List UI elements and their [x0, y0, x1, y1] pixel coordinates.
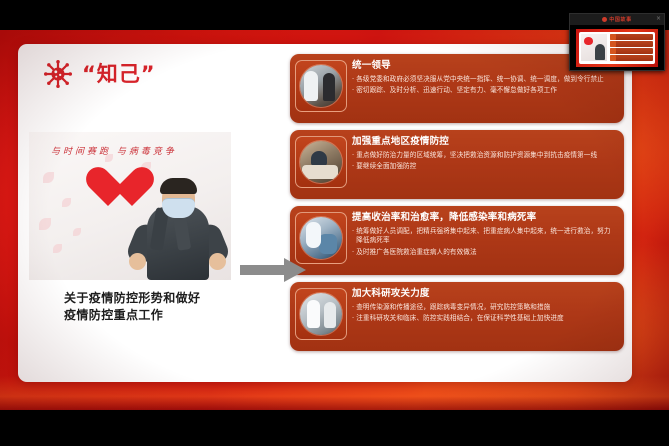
slide-caption: 关于疫情防控形势和做好疫情防控重点工作 — [64, 290, 204, 324]
point-card-2[interactable]: 加强重点地区疫情防控 · 重点做好防治力量的区域统筹，坚决把救治资源和防护资源集… — [290, 130, 624, 199]
pip-content[interactable] — [570, 25, 664, 70]
card-thumbnail-frame — [295, 288, 347, 340]
card-thumbnail-frame — [295, 60, 347, 112]
screen: “知己” 与时间赛跑 与病毒竞争 — [0, 0, 669, 446]
app-logo-icon — [602, 17, 607, 22]
pip-card-thumb — [610, 48, 616, 54]
card-bullet: · 要继续全面加强防控 — [352, 162, 616, 171]
bullet-marker: · — [352, 162, 354, 171]
card-bullet-text: 查明传染源和传播途径，跟踪病毒变异情况，研究防控策略和措施 — [356, 303, 616, 312]
slide-title-row: “知己” — [44, 60, 156, 88]
card-bullet-text: 及时推广各医院救治重症病人的有效做法 — [356, 248, 616, 257]
pip-card-thumb — [610, 34, 616, 40]
pip-heart-icon — [584, 37, 593, 45]
card-bullet-text: 密切跟踪、及时分析、迅速行动、坚定有力、毫不懈怠做好各项工作 — [356, 86, 616, 95]
pip-card — [610, 48, 653, 54]
coronavirus-icon — [44, 60, 72, 88]
red-heart-icon — [85, 168, 131, 210]
card-bullet: · 各级党委和政府必须坚决服从党中央统一指挥、统一协调、统一调度，做到令行禁止 — [352, 75, 616, 84]
card-bullet: · 统筹做好人员调配，把精兵强将集中起来、把重症病人集中起来，统一进行救治，努力… — [352, 227, 616, 246]
point-card-4[interactable]: 加大科研攻关力度 · 查明传染源和传播途径，跟踪病毒变异情况，研究防控策略和措施… — [290, 282, 624, 351]
point-card-3[interactable]: 提高收治率和治愈率，降低感染率和病死率 · 统筹做好人员调配，把精兵强将集中起来… — [290, 206, 624, 275]
card-title: 加强重点地区疫情防控 — [352, 136, 616, 148]
icu-treatment-photo — [300, 217, 342, 259]
bullet-marker: · — [352, 303, 354, 312]
figure-left-hand — [129, 253, 146, 270]
bullet-marker: · — [352, 314, 354, 323]
pip-window-title: 中国故事 — [609, 16, 631, 23]
points-card-list: 统一领导 · 各级党委和政府必须坚决服从党中央统一指挥、统一协调、统一调度，做到… — [290, 54, 624, 358]
card-bullet: · 密切跟踪、及时分析、迅速行动、坚定有力、毫不懈怠做好各项工作 — [352, 86, 616, 95]
bullet-marker: · — [352, 248, 354, 257]
pip-slide-panel — [579, 32, 655, 64]
photo-figure — [129, 162, 225, 280]
card-bullet-text: 注重科研攻关和临床、防控实践相结合，在保证科学性基础上加快进度 — [356, 314, 616, 323]
card-thumbnail-frame — [295, 136, 347, 188]
pip-card-thumb — [610, 41, 616, 47]
presentation-preview-window[interactable]: 中国故事 × — [569, 13, 665, 71]
page-title: “知己” — [82, 64, 156, 85]
bullet-marker: · — [352, 227, 354, 246]
epidemic-inspection-photo — [300, 65, 342, 107]
card-bullet: · 注重科研攻关和临床、防控实践相结合，在保证科学性基础上加快进度 — [352, 314, 616, 323]
close-icon[interactable]: × — [656, 16, 661, 22]
card-bullet-text: 各级党委和政府必须坚决服从党中央统一指挥、统一协调、统一调度，做到令行禁止 — [356, 75, 616, 84]
figure-right-hand — [209, 253, 226, 270]
figure-hair — [160, 178, 197, 194]
bullet-marker: · — [352, 151, 354, 160]
pip-title-bar[interactable]: 中国故事 × — [570, 14, 664, 25]
face-mask-icon — [162, 198, 195, 218]
card-bullet: · 及时推广各医院救治重症病人的有效做法 — [352, 248, 616, 257]
slide-panel: “知己” 与时间赛跑 与病毒竞争 — [18, 44, 632, 382]
card-bullet: · 查明传染源和传播途径，跟踪病毒变异情况，研究防控策略和措施 — [352, 303, 616, 312]
card-bullet-text: 统筹做好人员调配，把精兵强将集中起来、把重症病人集中起来，统一进行救治，努力降低… — [356, 227, 616, 246]
bullet-marker: · — [352, 86, 354, 95]
letterbox-bottom — [0, 410, 669, 446]
pip-figure — [595, 44, 605, 60]
bullet-marker: · — [352, 75, 354, 84]
card-title: 提高收治率和治愈率，降低感染率和病死率 — [352, 212, 616, 224]
card-bullet: · 重点做好防治力量的区域统筹，坚决把救治资源和防护资源集中到抗击疫情第一线 — [352, 151, 616, 160]
photo-calligraphy-text: 与时间赛跑 与病毒竞争 — [51, 144, 177, 157]
card-bullet-text: 重点做好防治力量的区域统筹，坚决把救治资源和防护资源集中到抗击疫情第一线 — [356, 151, 616, 160]
card-bullet-text: 要继续全面加强防控 — [356, 162, 616, 171]
leader-photo: 与时间赛跑 与病毒竞争 — [29, 132, 231, 280]
research-lab-photo — [300, 293, 342, 335]
hospital-ward-photo — [300, 141, 342, 183]
pip-card — [610, 55, 653, 61]
right-arrow-icon — [240, 257, 306, 283]
card-title: 加大科研攻关力度 — [352, 288, 616, 300]
pip-card — [610, 34, 653, 40]
pip-card-thumb — [610, 55, 616, 61]
pip-slide-thumbnail — [576, 29, 658, 67]
pip-card — [610, 41, 653, 47]
pip-photo — [581, 34, 607, 61]
